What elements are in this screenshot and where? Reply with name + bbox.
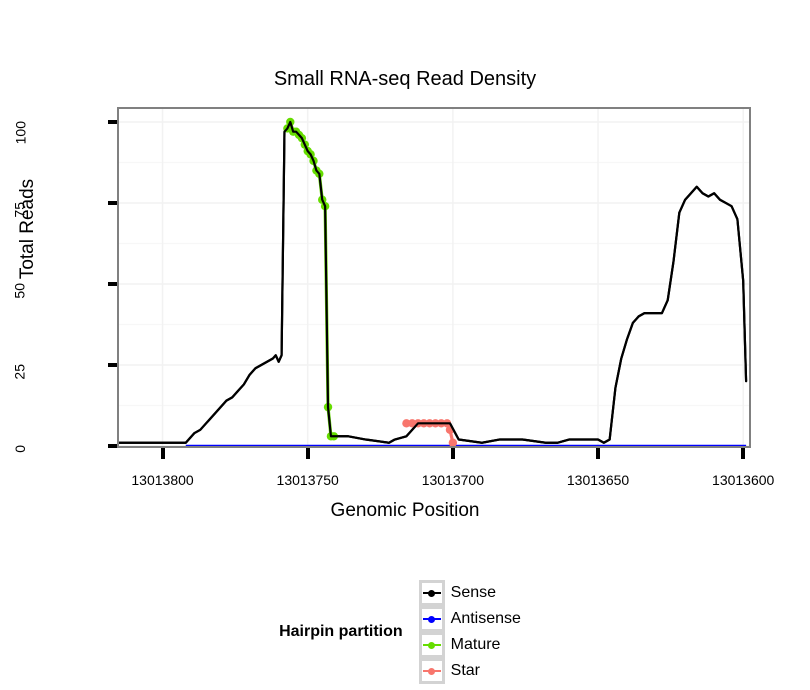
x-tick-label: 13013750 (277, 472, 339, 488)
legend-key-dot (428, 616, 435, 623)
x-tick-mark (306, 448, 310, 459)
y-tick-mark (108, 363, 117, 367)
y-tick-mark (108, 282, 117, 286)
y-tick-mark (108, 201, 117, 205)
x-tick-mark (741, 448, 745, 459)
legend-key-dot (428, 642, 435, 649)
legend-label: Star (451, 662, 480, 680)
legend-item-antisense[interactable]: Antisense (419, 606, 521, 632)
series-mature-points (283, 118, 338, 441)
x-tick-mark (596, 448, 600, 459)
x-tick-label: 13013650 (567, 472, 629, 488)
y-tick-label: 75 (12, 202, 28, 218)
series-sense-overlay (119, 122, 746, 443)
x-tick-label: 13013700 (422, 472, 484, 488)
legend-items: SenseAntisenseMatureStar (419, 580, 531, 684)
x-axis-label: Genomic Position (0, 500, 810, 522)
y-tick-mark (108, 444, 117, 448)
legend-label: Sense (451, 584, 496, 602)
series-sense (119, 122, 746, 443)
y-tick-label: 0 (12, 445, 28, 453)
chart-title: Small RNA-seq Read Density (0, 68, 810, 91)
chart-legend: Hairpin partition SenseAntisenseMatureSt… (0, 580, 810, 684)
legend-item-mature[interactable]: Mature (419, 632, 521, 658)
legend-key-icon (419, 658, 445, 684)
legend-key-icon (419, 632, 445, 658)
legend-key-dot (428, 668, 435, 675)
x-tick-label: 13013800 (131, 472, 193, 488)
legend-item-sense[interactable]: Sense (419, 580, 521, 606)
y-tick-label: 50 (12, 283, 28, 299)
legend-key-icon (419, 580, 445, 606)
legend-label: Antisense (451, 610, 521, 628)
legend-item-star[interactable]: Star (419, 658, 521, 684)
y-tick-label: 25 (12, 364, 28, 380)
y-tick-label: 100 (12, 121, 28, 144)
y-tick-mark (108, 120, 117, 124)
legend-label: Mature (451, 636, 501, 654)
plot-panel (117, 107, 751, 448)
plot-area (119, 109, 749, 446)
x-tick-mark (451, 448, 455, 459)
grid-lines (119, 109, 749, 446)
x-tick-label: 13013600 (712, 472, 774, 488)
x-tick-mark (161, 448, 165, 459)
legend-key-icon (419, 606, 445, 632)
legend-title: Hairpin partition (279, 623, 403, 641)
legend-key-dot (428, 590, 435, 597)
chart-figure: Small RNA-seq Read Density Total Reads 0… (0, 0, 810, 690)
